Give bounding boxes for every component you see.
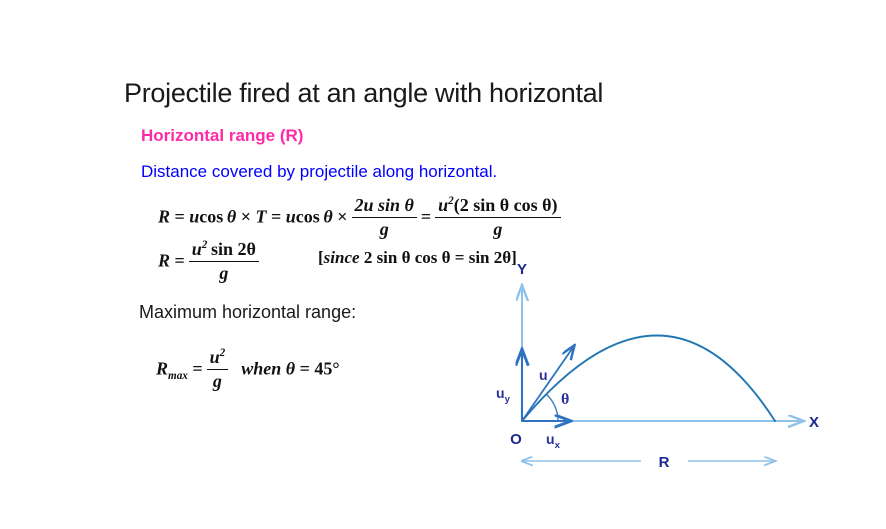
definition-text: Distance covered by projectile along hor… [141, 162, 497, 182]
formula-cos-2: cos [296, 206, 320, 226]
formula-times-2: × [337, 206, 347, 226]
rmax-denominator: g [207, 370, 229, 392]
rmax-when: when [241, 358, 281, 378]
fraction-u2-sincos-over-g: u2(2 sin θ cos θ)g [435, 195, 560, 239]
angle-label: θ [561, 391, 569, 408]
formula-range-derivation: R = ucos θ × T = ucos θ ×2u sin θg=u2(2 … [158, 196, 565, 240]
numerator-u-base: u [438, 195, 448, 215]
max-range-label: Maximum horizontal range: [139, 302, 356, 323]
slide-canvas: Projectile fired at an angle with horizo… [0, 0, 886, 529]
range-label: R [659, 454, 670, 471]
fraction-u2sin2theta-over-g: u2 sin 2θg [189, 239, 259, 283]
formula-theta-1: θ [227, 206, 236, 226]
note-body: 2 sin θ cos θ [364, 248, 451, 267]
formula-equals-3: = [421, 206, 431, 226]
fraction-2usin-over-g: 2u sin θg [352, 195, 417, 239]
angle-arc [546, 394, 558, 421]
rmax-value: 45° [314, 358, 339, 378]
formula-theta-2: θ [323, 206, 332, 226]
formula-T: T [256, 206, 267, 226]
note-since: since [324, 248, 360, 267]
x-axis-label: X [809, 414, 819, 431]
formula-equals-2: = [271, 206, 281, 226]
formula-range-final: R =u2 sin 2θg [158, 240, 263, 284]
formula-times-1: × [241, 206, 251, 226]
velocity-x-label-group: ux [546, 431, 561, 451]
rmax-subscript: max [168, 370, 188, 382]
rmax-u-base: u [210, 347, 220, 367]
formula2-u-base: u [192, 239, 202, 259]
y-axis-label: Y [517, 261, 527, 278]
fraction-denominator-2: g [435, 218, 560, 240]
fraction-denominator-1: g [352, 218, 417, 240]
rmax-equals-2: = [300, 358, 310, 378]
formula-equals-1: = [175, 206, 185, 226]
rmax-equals-1: = [192, 358, 202, 378]
formula-max-range: Rmax =u2g when θ = 45° [156, 348, 340, 392]
velocity-x-subscript: x [555, 440, 561, 451]
formula2-equals: = [175, 250, 185, 270]
rmax-theta: θ [286, 358, 295, 378]
numerator-rest: (2 sin θ cos θ) [454, 195, 558, 215]
formula-u-1: u [189, 206, 199, 226]
origin-label: O [510, 431, 522, 448]
projectile-trajectory-diagram: Y X O u uy ux θ R [478, 258, 878, 488]
fraction-numerator-1: 2u sin θ [352, 195, 417, 218]
fraction2-denominator: g [189, 262, 259, 284]
section-heading-horizontal-range: Horizontal range (R) [141, 126, 303, 146]
formula2-sin2theta: sin 2θ [211, 239, 256, 259]
fraction-numerator-2: u2(2 sin θ cos θ) [435, 195, 560, 218]
rmax-base: R [156, 358, 168, 378]
velocity-vector [522, 346, 574, 421]
formula2-lhs-R: R [158, 250, 170, 270]
rmax-numerator: u2 [207, 347, 229, 370]
formula-cos-1: cos [199, 206, 223, 226]
formula2-exponent: 2 [202, 239, 208, 251]
velocity-y-label: u [496, 385, 505, 401]
note-equals: = [455, 248, 465, 267]
velocity-y-subscript: y [505, 394, 511, 405]
velocity-label: u [539, 367, 548, 383]
trajectory-curve [522, 336, 775, 422]
formula-u-2: u [286, 206, 296, 226]
velocity-y-label-group: uy [496, 385, 511, 405]
velocity-x-label: u [546, 431, 555, 447]
formula-lhs-R: R [158, 206, 170, 226]
fraction2-numerator: u2 sin 2θ [189, 239, 259, 262]
fraction-u2-over-g: u2g [207, 347, 229, 391]
page-title: Projectile fired at an angle with horizo… [124, 78, 603, 109]
rmax-exponent: 2 [220, 347, 226, 359]
